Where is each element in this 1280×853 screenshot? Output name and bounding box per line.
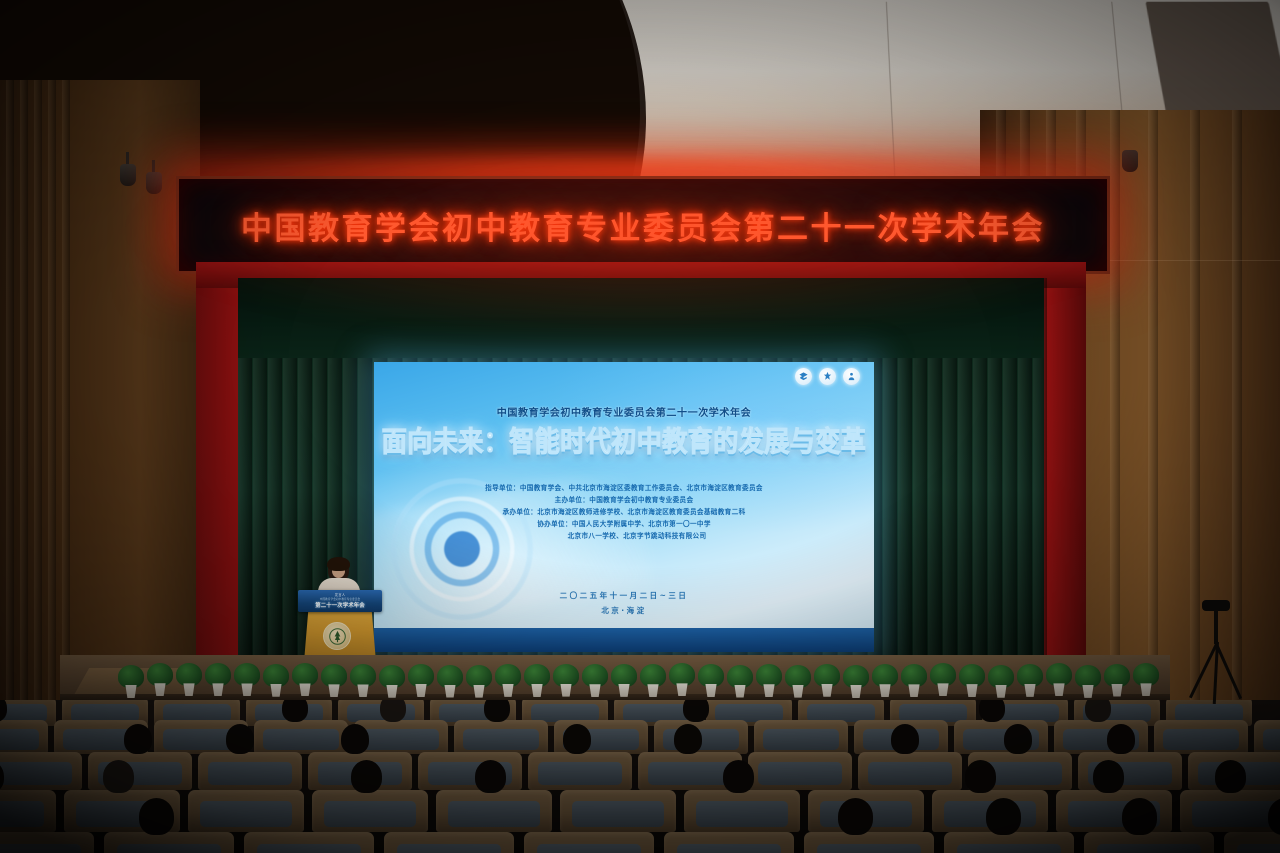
auditorium-seat xyxy=(560,790,676,832)
audience-member xyxy=(226,724,254,754)
auditorium-seat xyxy=(944,832,1074,853)
auditorium-seat xyxy=(188,790,304,832)
audience-member xyxy=(1215,760,1246,793)
podium-banner-main-text: 第二十一次学术年会 xyxy=(298,601,382,609)
auditorium-seat xyxy=(254,720,348,754)
screen-organizer-line: 承办单位：北京市海淀区教师进修学校、北京市海淀区教育委员会基础教育二科 xyxy=(502,506,745,516)
stage-potted-plant xyxy=(669,662,695,696)
auditorium-seat xyxy=(664,832,794,853)
auditorium-seat xyxy=(858,752,962,790)
stage-potted-plant xyxy=(408,663,434,697)
audience-member xyxy=(1122,798,1157,835)
stage-potted-plant xyxy=(118,664,144,698)
screen-organizer-line: 协办单位：中国人民大学附属中学、北京市第一〇一中学 xyxy=(537,518,711,528)
auditorium-seat xyxy=(528,752,632,790)
tripod-column xyxy=(1214,610,1218,644)
auditorium-seat xyxy=(198,752,302,790)
auditorium-seat xyxy=(684,790,800,832)
audience-member xyxy=(723,760,754,793)
audience-member xyxy=(1093,760,1124,793)
audience-member xyxy=(1107,724,1135,754)
school-emblem-icon xyxy=(323,622,351,650)
auditorium-seat xyxy=(0,720,48,754)
audience-seating xyxy=(0,700,1280,853)
audience-member xyxy=(683,700,709,722)
stage-potted-plant xyxy=(1104,663,1130,697)
auditorium-seat xyxy=(1254,720,1280,754)
stage-potted-plant xyxy=(1075,664,1101,698)
auditorium-seat xyxy=(454,720,548,754)
screen-date-block: 二〇二五年十一月二日~三日 北京·海淀 xyxy=(374,590,874,616)
academy-emblem-icon xyxy=(843,368,860,385)
audience-member xyxy=(563,724,591,754)
stage-potted-plant xyxy=(640,663,666,697)
auditorium-seat xyxy=(104,832,234,853)
podium-with-speaker: 发言人 中国教育学会初中教育专业委员会 第二十一次学术年会 xyxy=(294,556,384,662)
screen-bottom-bar xyxy=(374,628,874,652)
auditorium-seat xyxy=(0,790,56,832)
screen-organizer-line: 指导单位：中国教育学会、中共北京市海淀区委教育工作委员会、北京市海淀区教育委员会 xyxy=(485,482,763,492)
stage-potted-plant xyxy=(785,664,811,698)
auditorium-seat xyxy=(0,752,82,790)
stage-potted-plant xyxy=(727,664,753,698)
stage-potted-plant xyxy=(756,663,782,697)
stage-plant-row xyxy=(118,660,1158,698)
school-crest-icon xyxy=(819,368,836,385)
stage-potted-plant xyxy=(350,663,376,697)
curtain-top-shadow xyxy=(238,278,1044,358)
stage-potted-plant xyxy=(524,663,550,697)
stage-potted-plant xyxy=(495,663,521,697)
audience-member xyxy=(674,724,702,754)
auditorium-seat xyxy=(524,832,654,853)
auditorium-seat xyxy=(804,832,934,853)
stage-potted-plant xyxy=(930,662,956,696)
stage-light-icon xyxy=(120,164,136,186)
stage-potted-plant xyxy=(321,663,347,697)
audience-member xyxy=(351,760,382,793)
stage-potted-plant xyxy=(176,662,202,696)
auditorium-seat xyxy=(0,832,94,853)
audience-member xyxy=(103,760,134,793)
audience-member xyxy=(380,700,406,722)
stage-potted-plant xyxy=(466,664,492,698)
screen-location: 北京·海淀 xyxy=(601,605,646,616)
stage-potted-plant xyxy=(988,664,1014,698)
auditorium-seat xyxy=(312,790,428,832)
audience-member xyxy=(986,798,1021,835)
led-banner: 中国教育学会初中教育专业委员会第二十一次学术年会 xyxy=(176,176,1110,274)
auditorium-seat xyxy=(954,720,1048,754)
audience-member xyxy=(139,798,174,835)
stage-potted-plant xyxy=(292,662,318,696)
audience-member xyxy=(965,760,996,793)
audience-member xyxy=(124,724,152,754)
stage-potted-plant xyxy=(901,663,927,697)
stage-potted-plant xyxy=(959,663,985,697)
stage-potted-plant xyxy=(234,662,260,696)
auditorium-seat xyxy=(1224,832,1280,853)
stage-potted-plant xyxy=(582,663,608,697)
auditorium-stage-photo: 中国教育学会初中教育专业委员会第二十一次学术年会 中国教育学会初中教育专业委员会… xyxy=(0,0,1280,853)
stage-potted-plant xyxy=(814,663,840,697)
auditorium-seat xyxy=(1084,832,1214,853)
stage-potted-plant xyxy=(205,662,231,696)
screen-organizer-line: 北京市八一学校、北京字节跳动科技有限公司 xyxy=(568,530,707,540)
auditorium-seat xyxy=(436,790,552,832)
audience-member xyxy=(475,760,506,793)
auditorium-seat xyxy=(1154,720,1248,754)
speaker-hair xyxy=(327,557,350,571)
auditorium-seat xyxy=(418,752,522,790)
audience-member xyxy=(484,700,510,722)
audience-member xyxy=(838,798,873,835)
projection-screen: 中国教育学会初中教育专业委员会第二十一次学术年会 面向未来：智能时代初中教育的发… xyxy=(374,362,874,652)
podium-banner: 发言人 中国教育学会初中教育专业委员会 第二十一次学术年会 xyxy=(298,590,382,612)
stage-potted-plant xyxy=(1046,662,1072,696)
auditorium-seat xyxy=(754,720,848,754)
stage-potted-plant xyxy=(553,663,579,697)
audience-member xyxy=(341,724,369,754)
auditorium-seat xyxy=(244,832,374,853)
stage-potted-plant xyxy=(1133,662,1159,696)
screen-logo-row xyxy=(795,368,860,385)
stage-potted-plant xyxy=(872,663,898,697)
stage-potted-plant xyxy=(147,662,173,696)
screen-date: 二〇二五年十一月二日~三日 xyxy=(560,590,689,601)
stage-potted-plant xyxy=(698,663,724,697)
screen-organizer-block: 指导单位：中国教育学会、中共北京市海淀区委教育工作委员会、北京市海淀区教育委员会… xyxy=(374,482,874,540)
stage-potted-plant xyxy=(1017,663,1043,697)
education-society-logo-icon xyxy=(795,368,812,385)
audience-member xyxy=(282,700,308,722)
led-banner-text: 中国教育学会初中教育专业委员会第二十一次学术年会 xyxy=(179,179,1107,271)
auditorium-seat xyxy=(384,832,514,853)
audience-member xyxy=(1085,700,1111,722)
stage-potted-plant xyxy=(379,664,405,698)
audience-member xyxy=(979,700,1005,722)
screen-organizer-line: 主办单位：中国教育学会初中教育专业委员会 xyxy=(555,494,694,504)
stage-potted-plant xyxy=(843,664,869,698)
stage-potted-plant xyxy=(611,663,637,697)
camera-tripod-icon xyxy=(1188,600,1244,704)
audience-member xyxy=(891,724,919,754)
stage-potted-plant xyxy=(263,663,289,697)
stage-potted-plant xyxy=(437,664,463,698)
auditorium-seat xyxy=(748,752,852,790)
auditorium-seat xyxy=(1180,790,1280,832)
audience-member xyxy=(1004,724,1032,754)
screen-header-text: 中国教育学会初中教育专业委员会第二十一次学术年会 xyxy=(374,404,874,419)
screen-main-title: 面向未来：智能时代初中教育的发展与变革 xyxy=(374,420,874,460)
